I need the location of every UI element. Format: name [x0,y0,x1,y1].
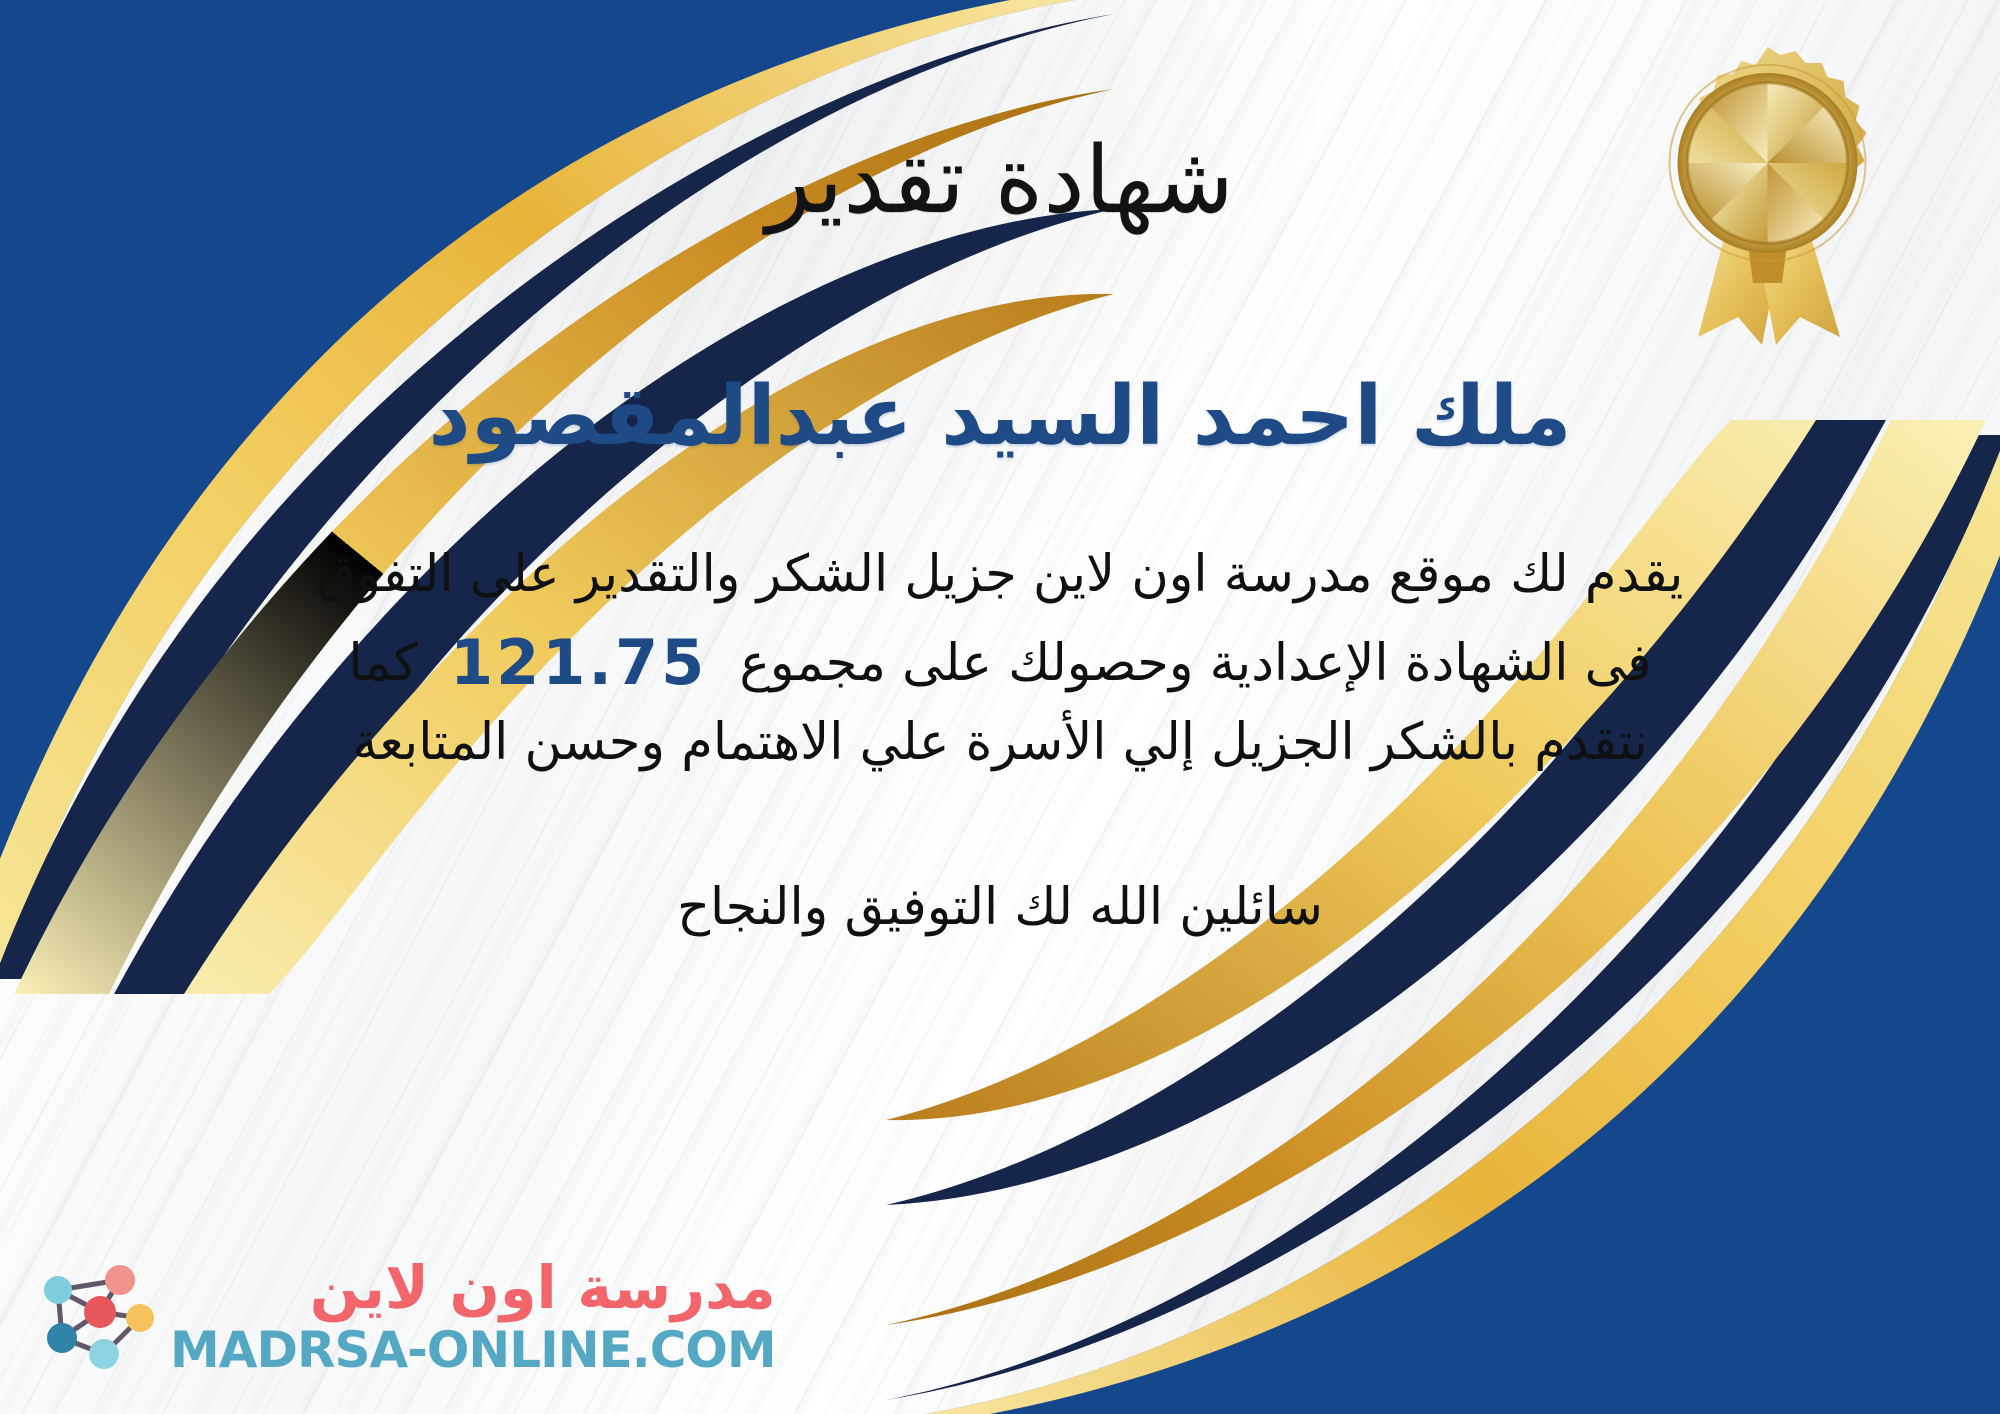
logo-text-group: مدرسة اون لاين MADRSA-ONLINE.COM [170,1258,776,1375]
body-line-2-left-text: كما [348,634,417,693]
student-name: ملك احمد السيد عبدالمقصود [429,372,1572,462]
page-title: شهادة تقدير [766,128,1234,232]
network-nodes-icon [28,1250,160,1382]
certificate-body: يقدم لك موقع مدرسة اون لاين جزيل الشكر و… [240,537,1760,780]
body-line-2-right-text: فى الشهادة الإعدادية وحصولك على مجموع [739,634,1651,693]
certificate-content: شهادة تقدير ملك احمد السيد عبدالمقصود يق… [0,0,2000,1414]
logo-arabic-name: مدرسة اون لاين [170,1258,776,1317]
closing-line: سائلين الله لك التوفيق والنجاح [677,872,1323,943]
body-line-1: يقدم لك موقع مدرسة اون لاين جزيل الشكر و… [240,537,1760,612]
total-score-value: 121.75 [434,617,723,709]
logo-website-url: MADRSA-ONLINE.COM [170,1325,776,1375]
body-line-2: فى الشهادة الإعدادية وحصولك على مجموع 12… [240,613,1760,705]
body-line-3: نتقدم بالشكر الجزيل إلي الأسرة علي الاهت… [240,705,1760,780]
site-logo[interactable]: مدرسة اون لاين MADRSA-ONLINE.COM [28,1236,588,1396]
certificate-canvas: شهادة تقدير ملك احمد السيد عبدالمقصود يق… [0,0,2000,1414]
